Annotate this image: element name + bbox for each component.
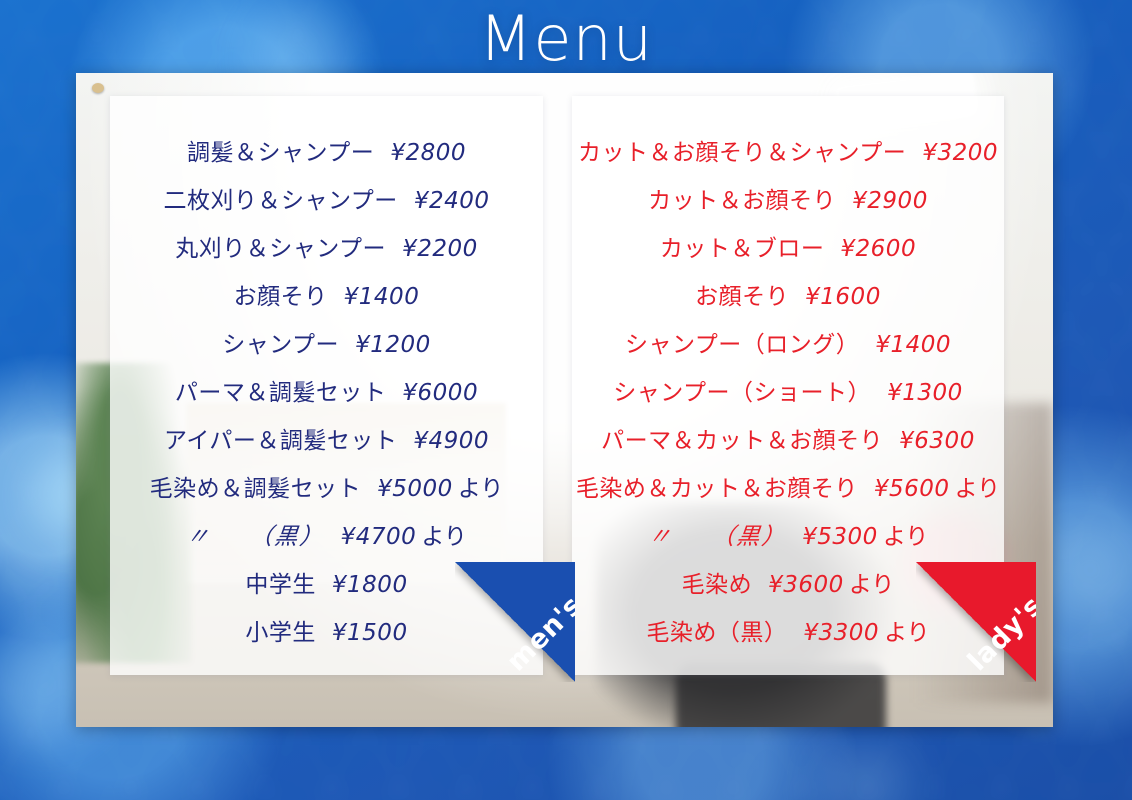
menu-item-price-suffix: より <box>421 524 467 550</box>
menu-row: お顔そり¥1400 <box>110 273 543 321</box>
menu-item-price: ¥2800 <box>390 140 466 166</box>
menu-item-name: 毛染め <box>682 572 753 598</box>
menu-item-price-suffix: より <box>883 524 929 550</box>
menu-item-price: ¥4900 <box>413 428 489 454</box>
menu-row: お顔そり¥1600 <box>572 273 1004 321</box>
menu-item-price: ¥5300 <box>802 524 878 550</box>
menu-row: 〃 （黒）¥5300より <box>572 513 1004 561</box>
menu-item-price-suffix: より <box>849 572 895 598</box>
menu-item-name: アイパー＆調髪セット <box>164 428 397 454</box>
menu-item-name: 毛染め＆調髪セット <box>150 476 362 502</box>
menu-item-name: シャンプー（ショート） <box>613 380 871 406</box>
bokeh-blob <box>1040 520 1132 620</box>
menu-item-name: カット＆お顔そり <box>648 188 836 214</box>
menu-item-price: ¥5600 <box>874 476 950 502</box>
menu-item-name: 二枚刈り＆シャンプー <box>164 188 398 214</box>
menu-item-price: ¥3600 <box>768 572 844 598</box>
menu-item-price: ¥2200 <box>402 236 478 262</box>
menu-item-price: ¥2400 <box>414 188 490 214</box>
menu-item-name: カット＆お顔そり＆シャンプー <box>578 140 906 166</box>
menu-item-name: シャンプー <box>222 332 339 358</box>
menu-row: パーマ＆カット＆お顔そり¥6300 <box>572 417 1004 465</box>
pin-icon <box>92 83 104 93</box>
menu-item-price: ¥1200 <box>355 332 431 358</box>
menu-item-price: ¥3300 <box>803 620 879 646</box>
menu-item-price: ¥1800 <box>332 572 408 598</box>
menu-item-price: ¥2600 <box>840 236 916 262</box>
page-title: Menu <box>0 2 1132 75</box>
menu-row: 毛染め＆調髪セット¥5000より <box>110 465 543 513</box>
mens-corner-ribbon: men's <box>455 562 575 682</box>
menu-item-name: お顔そり <box>234 284 328 310</box>
menu-row: カット＆お顔そり¥2900 <box>572 177 1004 225</box>
menu-item-price: ¥6300 <box>899 428 975 454</box>
menu-row: アイパー＆調髪セット¥4900 <box>110 417 543 465</box>
menu-item-price: ¥1300 <box>887 380 963 406</box>
menu-item-price: ¥6000 <box>402 380 478 406</box>
menu-row: パーマ＆調髪セット¥6000 <box>110 369 543 417</box>
menu-item-name: お顔そり <box>695 284 789 310</box>
menu-item-name: 毛染め（黒） <box>646 620 787 646</box>
menu-item-name: 〃 （黒） <box>645 513 789 561</box>
menu-item-price: ¥4700 <box>341 524 417 550</box>
menu-item-name: シャンプー（ロング） <box>625 332 859 358</box>
menu-item-name: パーマ＆調髪セット <box>175 380 387 406</box>
menu-row: シャンプー¥1200 <box>110 321 543 369</box>
menu-row: シャンプー（ショート）¥1300 <box>572 369 1004 417</box>
menu-item-price: ¥3200 <box>922 140 998 166</box>
menu-row: カット＆ブロー¥2600 <box>572 225 1004 273</box>
menu-item-name: 丸刈り＆シャンプー <box>175 236 386 262</box>
menu-row: 丸刈り＆シャンプー¥2200 <box>110 225 543 273</box>
menu-item-name: 小学生 <box>245 620 316 646</box>
menu-row: 毛染め＆カット＆お顔そり¥5600より <box>572 465 1004 513</box>
menu-item-name: 調髪＆シャンプー <box>187 140 374 166</box>
menu-item-name: カット＆ブロー <box>660 236 825 262</box>
menu-item-price: ¥1400 <box>875 332 951 358</box>
menu-row: 調髪＆シャンプー¥2800 <box>110 129 543 177</box>
menu-item-name: 〃 （黒） <box>184 513 328 561</box>
menu-item-price: ¥2900 <box>852 188 928 214</box>
menu-item-price-suffix: より <box>955 476 1001 502</box>
menu-row: 二枚刈り＆シャンプー¥2400 <box>110 177 543 225</box>
menu-item-name: 中学生 <box>245 572 316 598</box>
menu-item-name: パーマ＆カット＆お顔そり <box>601 428 883 454</box>
ladys-corner-ribbon: lady's <box>916 562 1036 682</box>
menu-row: 〃 （黒）¥4700より <box>110 513 543 561</box>
menu-item-price: ¥5000 <box>377 476 453 502</box>
menu-item-price-suffix: より <box>458 476 504 502</box>
menu-item-name: 毛染め＆カット＆お顔そり <box>576 476 858 502</box>
menu-item-price: ¥1400 <box>344 284 420 310</box>
menu-item-price: ¥1600 <box>805 284 881 310</box>
menu-row: シャンプー（ロング）¥1400 <box>572 321 1004 369</box>
menu-poster: Menu 調髪＆シャンプー¥2800二枚刈り＆シャンプー¥2400丸刈り＆シャン… <box>0 0 1132 800</box>
menu-item-price: ¥1500 <box>332 620 408 646</box>
menu-row: カット＆お顔そり＆シャンプー¥3200 <box>572 129 1004 177</box>
